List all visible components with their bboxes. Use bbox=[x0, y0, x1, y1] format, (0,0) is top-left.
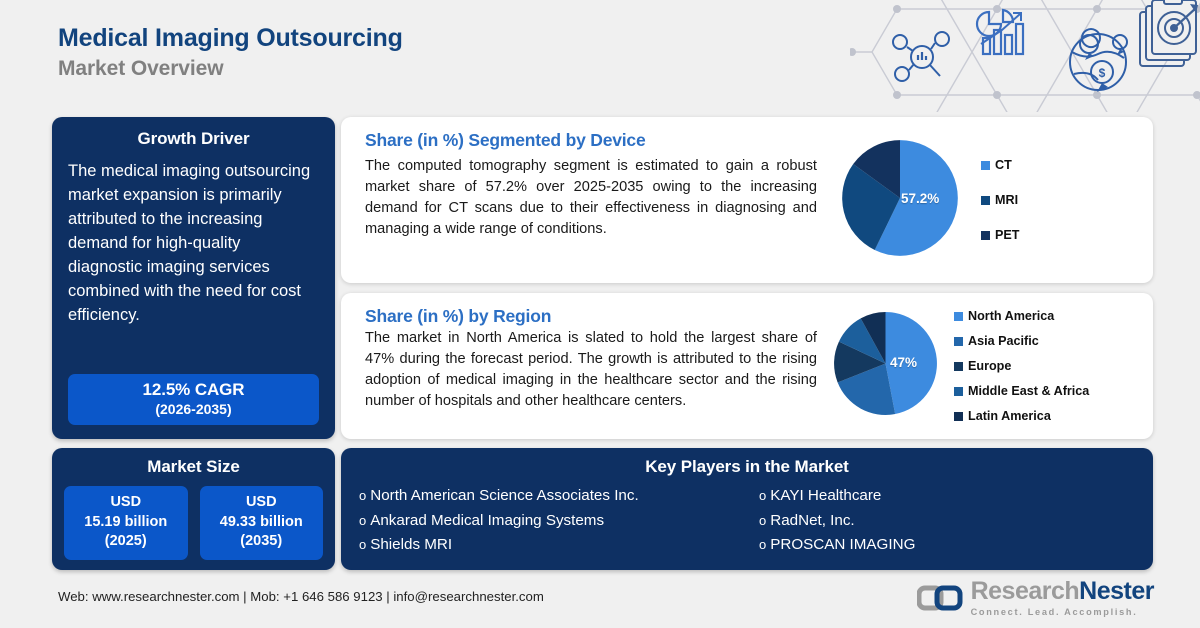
logo-word-nester: Nester bbox=[1079, 577, 1154, 605]
infographic-page: $ Medical Imaging Outsourcing Market Ove… bbox=[0, 0, 1200, 628]
share-by-device-text: Share (in %) Segmented by Device The com… bbox=[341, 117, 831, 283]
share-by-region-text: Share (in %) by Region The market in Nor… bbox=[341, 293, 831, 439]
logo-text: ResearchNester bbox=[971, 579, 1154, 604]
page-subtitle: Market Overview bbox=[58, 57, 403, 81]
region-pie-chart: 47% bbox=[833, 311, 938, 421]
key-player-name: KAYI Healthcare bbox=[770, 485, 881, 507]
legend-swatch bbox=[954, 387, 963, 396]
device-pie-chart: 57.2% bbox=[841, 139, 959, 262]
key-player-item: oNorth American Science Associates Inc. bbox=[359, 485, 759, 507]
legend-swatch bbox=[954, 312, 963, 321]
legend-item: Asia Pacific bbox=[954, 334, 1089, 348]
key-players-heading: Key Players in the Market bbox=[359, 457, 1135, 477]
market-size-currency: USD bbox=[68, 493, 184, 513]
key-player-item: oKAYI Healthcare bbox=[759, 485, 1135, 507]
market-size-value: 49.33 billion bbox=[204, 513, 320, 533]
key-player-item: oAnkarad Medical Imaging Systems bbox=[359, 510, 759, 532]
research-nester-logo: ResearchNester Connect. Lead. Accomplish… bbox=[917, 579, 1154, 617]
network-research-icon bbox=[893, 32, 949, 81]
key-players-panel: Key Players in the Market oNorth America… bbox=[341, 448, 1153, 570]
logo-wordmark: ResearchNester Connect. Lead. Accomplish… bbox=[971, 579, 1154, 617]
key-player-name: RadNet, Inc. bbox=[770, 510, 854, 532]
device-legend: CTMRIPET bbox=[981, 158, 1020, 242]
market-size-panel: Market Size USD 15.19 billion (2025) USD… bbox=[52, 448, 335, 570]
list-bullet: o bbox=[759, 512, 766, 530]
key-player-name: PROSCAN IMAGING bbox=[770, 534, 915, 556]
cagr-badge: 12.5% CAGR (2026-2035) bbox=[68, 374, 319, 425]
key-player-item: oShields MRI bbox=[359, 534, 759, 556]
cagr-period: (2026-2035) bbox=[76, 401, 311, 417]
legend-label: Latin America bbox=[968, 409, 1051, 423]
legend-item: Latin America bbox=[954, 409, 1089, 423]
share-by-region-card: Share (in %) by Region The market in Nor… bbox=[341, 293, 1153, 439]
key-player-name: Ankarad Medical Imaging Systems bbox=[370, 510, 604, 532]
legend-item: CT bbox=[981, 158, 1020, 172]
share-by-device-title: Share (in %) Segmented by Device bbox=[365, 130, 817, 151]
svg-text:$: $ bbox=[1099, 66, 1106, 80]
title-block: Medical Imaging Outsourcing Market Overv… bbox=[58, 24, 403, 81]
legend-label: CT bbox=[995, 158, 1012, 172]
market-size-card: USD 15.19 billion (2025) bbox=[64, 486, 188, 560]
list-bullet: o bbox=[359, 487, 366, 505]
hexagon-decoration: $ bbox=[850, 0, 1200, 112]
growth-driver-body: The medical imaging outsourcing market e… bbox=[68, 159, 319, 372]
list-bullet: o bbox=[759, 536, 766, 554]
market-size-heading: Market Size bbox=[64, 457, 323, 477]
legend-label: North America bbox=[968, 309, 1054, 323]
legend-swatch bbox=[954, 412, 963, 421]
legend-label: Asia Pacific bbox=[968, 334, 1039, 348]
footer-contact: Web: www.researchnester.com | Mob: +1 64… bbox=[58, 589, 544, 604]
device-chart-area: 57.2% CTMRIPET bbox=[831, 117, 1153, 283]
legend-label: MRI bbox=[995, 193, 1018, 207]
legend-item: MRI bbox=[981, 193, 1020, 207]
legend-swatch bbox=[981, 161, 990, 170]
region-pie-callout: 47% bbox=[890, 355, 917, 370]
page-title: Medical Imaging Outsourcing bbox=[58, 24, 403, 54]
device-pie-svg bbox=[841, 139, 959, 257]
legend-item: Europe bbox=[954, 359, 1089, 373]
market-size-value: 15.19 billion bbox=[68, 513, 184, 533]
global-finance-icon: $ bbox=[1070, 29, 1127, 92]
growth-driver-heading: Growth Driver bbox=[68, 129, 319, 149]
logo-tagline: Connect. Lead. Accomplish. bbox=[971, 607, 1154, 617]
page-footer: Web: www.researchnester.com | Mob: +1 64… bbox=[0, 570, 1200, 628]
clipboard-target-icon bbox=[1140, 0, 1198, 66]
key-player-item: oPROSCAN IMAGING bbox=[759, 534, 1135, 556]
logo-word-research: Research bbox=[971, 577, 1080, 605]
growth-driver-panel: Growth Driver The medical imaging outsou… bbox=[52, 117, 335, 439]
legend-swatch bbox=[954, 337, 963, 346]
legend-label: Europe bbox=[968, 359, 1011, 373]
market-size-cards: USD 15.19 billion (2025) USD 49.33 billi… bbox=[64, 486, 323, 560]
market-size-currency: USD bbox=[204, 493, 320, 513]
list-bullet: o bbox=[359, 512, 366, 530]
device-pie-callout: 57.2% bbox=[901, 191, 939, 206]
key-player-name: North American Science Associates Inc. bbox=[370, 485, 638, 507]
legend-swatch bbox=[954, 362, 963, 371]
list-bullet: o bbox=[359, 536, 366, 554]
region-chart-area: 47% North AmericaAsia PacificEuropeMiddl… bbox=[831, 293, 1153, 439]
legend-item: Middle East & Africa bbox=[954, 384, 1089, 398]
key-player-item: oRadNet, Inc. bbox=[759, 510, 1135, 532]
legend-item: North America bbox=[954, 309, 1089, 323]
market-size-year: (2025) bbox=[68, 532, 184, 552]
legend-swatch bbox=[981, 196, 990, 205]
key-player-name: Shields MRI bbox=[370, 534, 452, 556]
market-size-year: (2035) bbox=[204, 532, 320, 552]
cagr-value: 12.5% CAGR bbox=[76, 380, 311, 400]
key-players-list: oNorth American Science Associates Inc.o… bbox=[359, 485, 1135, 556]
page-header: $ Medical Imaging Outsourcing Market Ove… bbox=[0, 0, 1200, 108]
legend-label: PET bbox=[995, 228, 1020, 242]
share-by-region-title: Share (in %) by Region bbox=[365, 306, 817, 327]
list-bullet: o bbox=[759, 487, 766, 505]
region-legend: North AmericaAsia PacificEuropeMiddle Ea… bbox=[954, 309, 1089, 423]
legend-label: Middle East & Africa bbox=[968, 384, 1089, 398]
legend-item: PET bbox=[981, 228, 1020, 242]
share-by-device-card: Share (in %) Segmented by Device The com… bbox=[341, 117, 1153, 283]
bar-chart-growth-icon bbox=[977, 10, 1023, 54]
share-by-device-body: The computed tomography segment is estim… bbox=[365, 156, 817, 240]
legend-swatch bbox=[981, 231, 990, 240]
region-pie-svg bbox=[833, 311, 938, 416]
interlocking-links-logo-icon bbox=[917, 583, 963, 613]
market-size-card: USD 49.33 billion (2035) bbox=[200, 486, 324, 560]
share-by-region-body: The market in North America is slated to… bbox=[365, 328, 817, 412]
